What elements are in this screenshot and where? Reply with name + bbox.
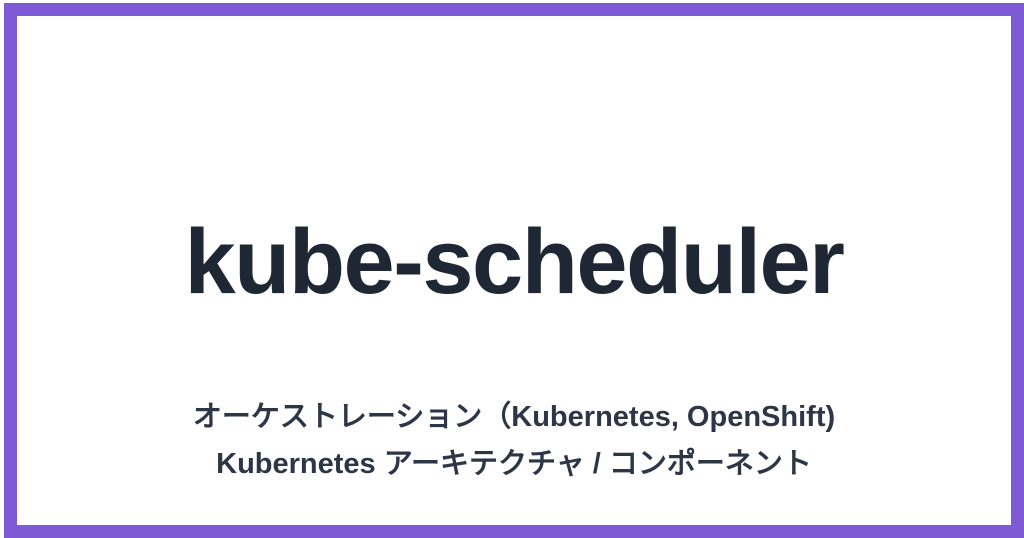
subtitle-line-secondary: Kubernetes アーキテクチャ / コンポーネント: [17, 441, 1011, 488]
subtitle-line-primary: オーケストレーション（Kubernetes, OpenShift): [17, 394, 1011, 441]
page-title: kube-scheduler: [17, 214, 1011, 311]
slide-canvas: kube-scheduler オーケストレーション（Kubernetes, Op…: [0, 0, 1024, 538]
title-block: kube-scheduler: [17, 214, 1011, 311]
purple-frame-border: kube-scheduler オーケストレーション（Kubernetes, Op…: [4, 3, 1024, 538]
subtitle-block: オーケストレーション（Kubernetes, OpenShift) Kubern…: [17, 394, 1011, 488]
slide-content-area: kube-scheduler オーケストレーション（Kubernetes, Op…: [17, 16, 1011, 525]
